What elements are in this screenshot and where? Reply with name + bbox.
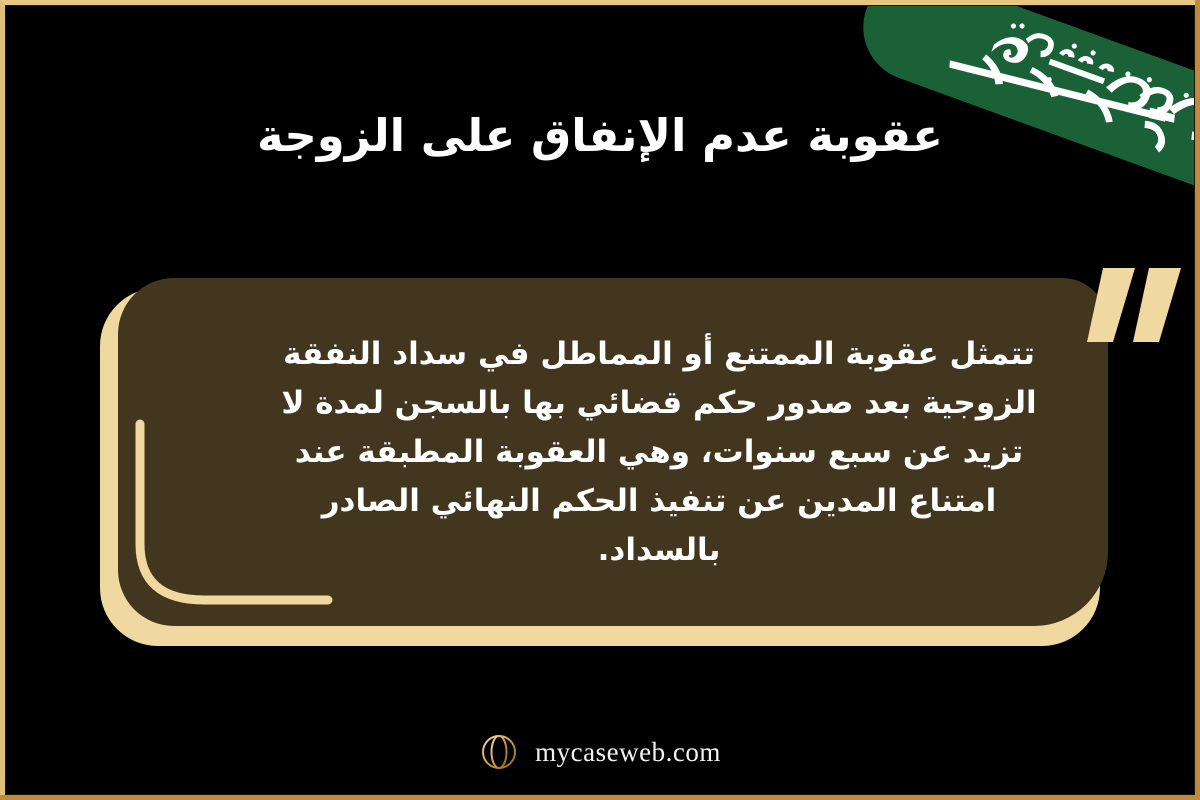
quote-mark-icon (1073, 264, 1193, 356)
poster-canvas: عقوبة عدم الإنفاق على الزوجة تتمثل عقوبة… (0, 0, 1200, 800)
saudi-arabia-flag-ribbon (848, 0, 1200, 203)
card-body: تتمثل عقوبة الممتنع أو المماطل في سداد ا… (118, 278, 1108, 626)
quote-card: تتمثل عقوبة الممتنع أو المماطل في سداد ا… (108, 278, 1108, 636)
flag-green-field (848, 0, 1200, 203)
flag-shahada-script (848, 0, 1200, 203)
footer: mycaseweb.com (0, 732, 1200, 772)
site-url-label: mycaseweb.com (535, 737, 721, 768)
quote-text: تتمثل عقوبة الممتنع أو المماطل في سداد ا… (268, 330, 1050, 575)
globe-icon (479, 732, 519, 772)
